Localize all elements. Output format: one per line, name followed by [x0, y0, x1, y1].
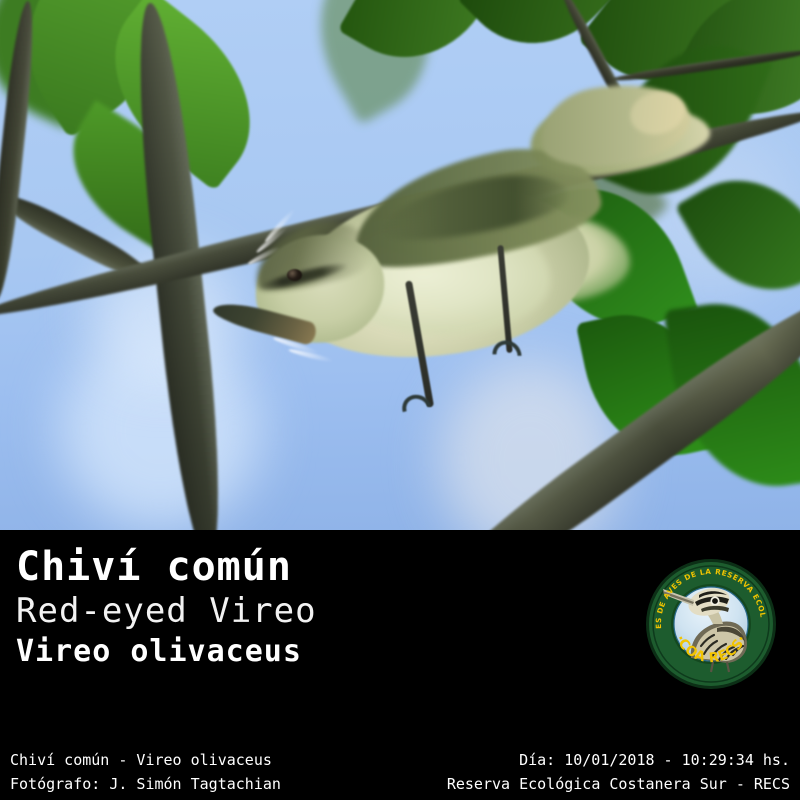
scientific-name: Vireo olivaceus: [16, 632, 616, 672]
common-name: Chiví común: [16, 544, 616, 590]
bird-eye: [287, 269, 302, 281]
footer-species-line: Chiví común - Vireo olivaceus: [10, 748, 281, 772]
coa-recs-logo: CLUB DE OBSERVADORES DE AVES DE LA RESER…: [645, 558, 777, 690]
footer-location-line: Reserva Ecológica Costanera Sur - RECS: [447, 772, 790, 796]
english-name: Red-eyed Vireo: [16, 590, 616, 632]
footer-photographer-line: Fotógrafo: J. Simón Tagtachian: [10, 772, 281, 796]
bird-photo-card: Chiví común Red-eyed Vireo Vireo olivace…: [0, 0, 800, 800]
footer-left-caption: Chiví común - Vireo olivaceus Fotógrafo:…: [10, 748, 281, 796]
footer-right-caption: Día: 10/01/2018 - 10:29:34 hs. Reserva E…: [447, 748, 790, 796]
footer-datetime-line: Día: 10/01/2018 - 10:29:34 hs.: [447, 748, 790, 772]
species-titles: Chiví común Red-eyed Vireo Vireo olivace…: [16, 544, 616, 672]
red-eyed-vireo-photo: [0, 0, 800, 530]
